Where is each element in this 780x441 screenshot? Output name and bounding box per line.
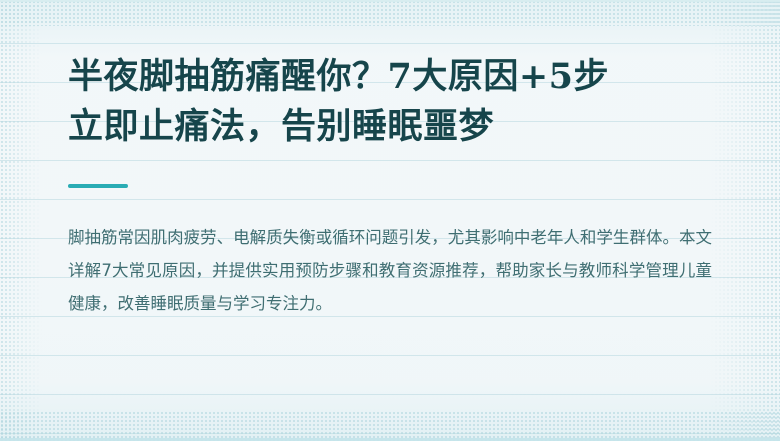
page-title-line-1: 半夜脚抽筋痛醒你？7大原因+5步 <box>68 52 712 102</box>
article-cover-card: 半夜脚抽筋痛醒你？7大原因+5步 立即止痛法，告别睡眠噩梦 脚抽筋常因肌肉疲劳、… <box>0 0 780 441</box>
page-title-line-2: 立即止痛法，告别睡眠噩梦 <box>68 102 712 152</box>
article-summary: 脚抽筋常因肌肉疲劳、电解质失衡或循环问题引发，尤其影响中老年人和学生群体。本文详… <box>68 188 712 321</box>
card-content: 半夜脚抽筋痛醒你？7大原因+5步 立即止痛法，告别睡眠噩梦 脚抽筋常因肌肉疲劳、… <box>0 0 780 321</box>
dot-pattern-bottom <box>0 411 780 441</box>
page-title: 半夜脚抽筋痛醒你？7大原因+5步 立即止痛法，告别睡眠噩梦 <box>68 0 712 153</box>
